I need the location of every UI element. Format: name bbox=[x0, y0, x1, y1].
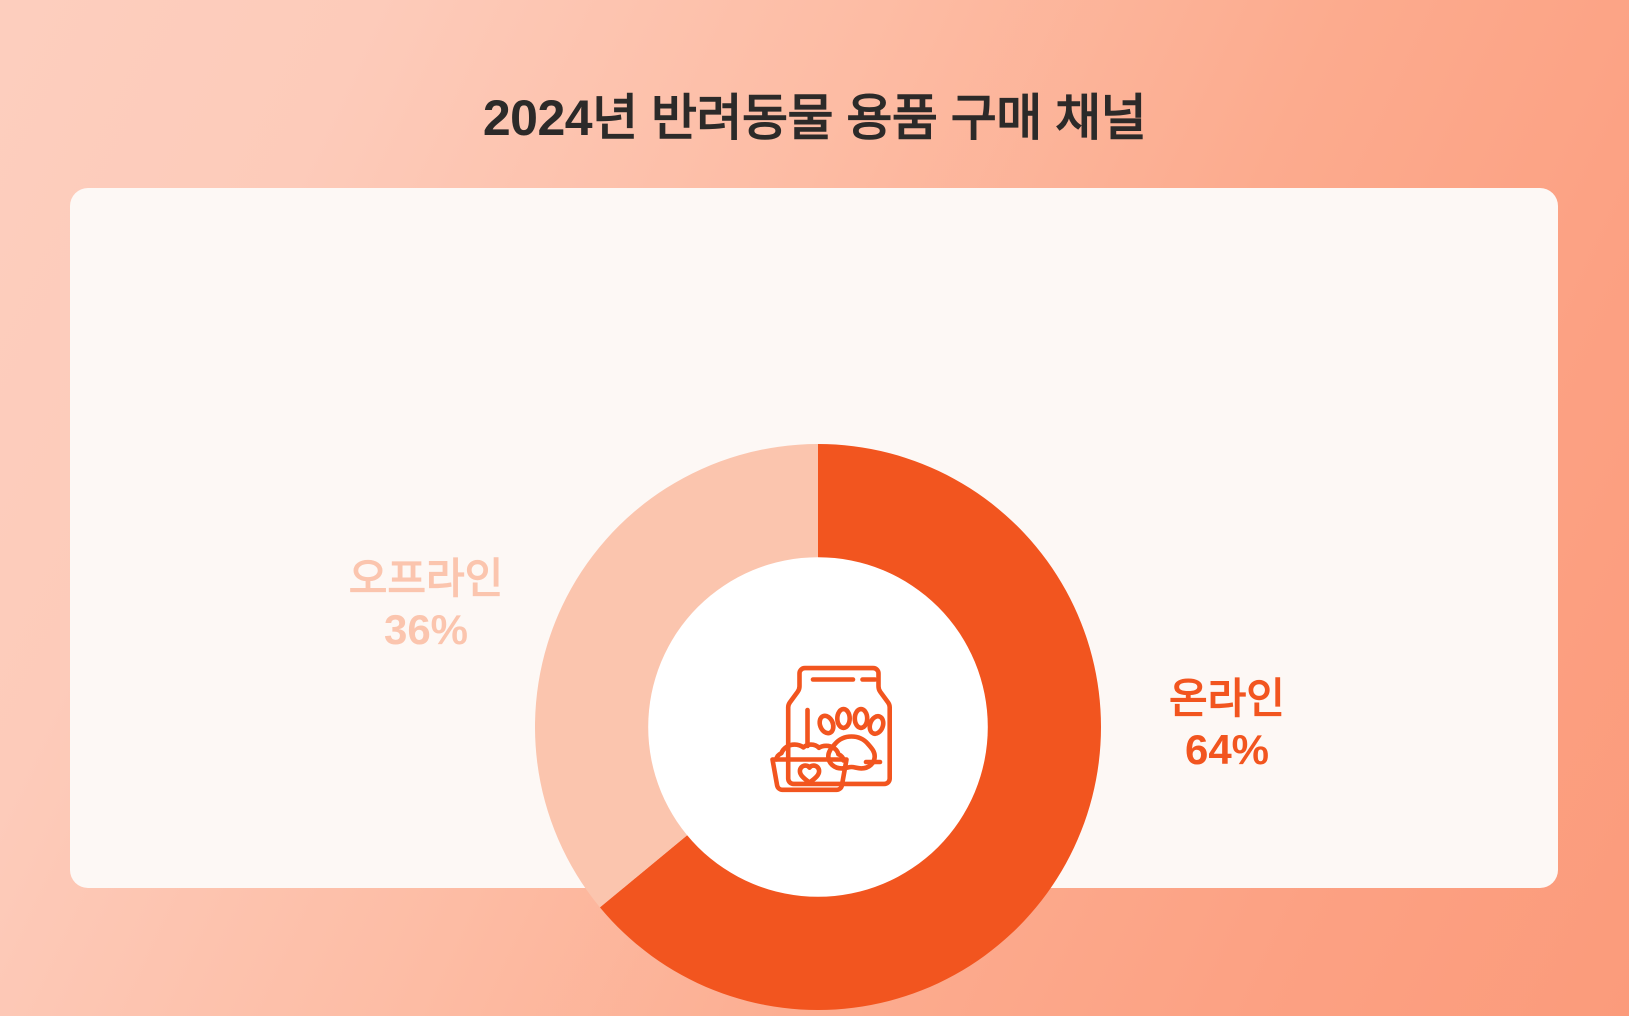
label-online-name: 온라인 bbox=[1082, 673, 1372, 724]
chart-card: 오프라인 36% 온라인 64% bbox=[70, 188, 1558, 888]
label-online-pct: 64% bbox=[1082, 724, 1372, 775]
donut-chart-svg bbox=[535, 444, 1101, 1010]
label-online: 온라인 64% bbox=[1082, 673, 1372, 775]
label-offline: 오프라인 36% bbox=[256, 553, 596, 655]
page-title: 2024년 반려동물 용품 구매 채널 bbox=[0, 89, 1629, 148]
infographic-canvas: 2024년 반려동물 용품 구매 채널 bbox=[0, 0, 1629, 1016]
donut-hole bbox=[648, 557, 988, 897]
label-offline-name: 오프라인 bbox=[256, 553, 596, 604]
donut-chart bbox=[535, 444, 1101, 1010]
label-offline-pct: 36% bbox=[256, 604, 596, 655]
